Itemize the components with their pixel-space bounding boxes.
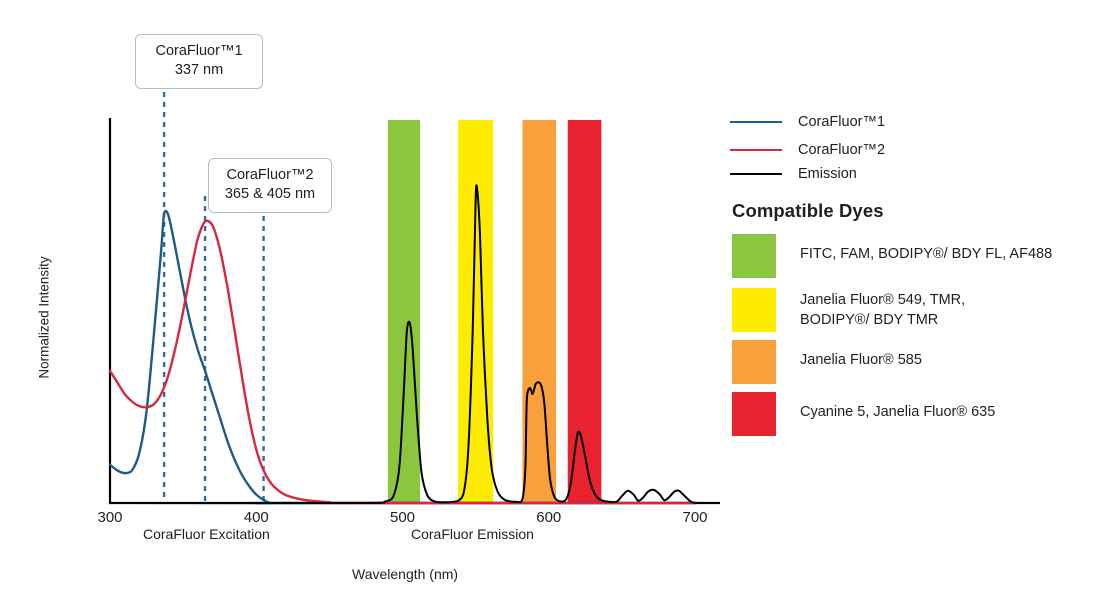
legend-item-label: CoraFluor™1	[798, 114, 885, 130]
yellow-band	[458, 120, 493, 503]
dye-color-swatch	[732, 340, 776, 384]
dye-item-label: FITC, FAM, BODIPY®/ BDY FL, AF488	[800, 234, 1052, 265]
x-tick-label: 700	[682, 509, 707, 526]
x-tick-label: 400	[244, 509, 269, 526]
dye-item-label: Janelia Fluor® 549, TMR, BODIPY®/ BDY TM…	[800, 288, 965, 330]
callout-corafluor-2: CoraFluor™2 365 & 405 nm	[208, 158, 332, 213]
excitation-range-label: CoraFluor Excitation	[143, 526, 270, 542]
dye-item-label: Janelia Fluor® 585	[800, 340, 922, 371]
callout-corafluor-1: CoraFluor™1 337 nm	[135, 34, 263, 89]
legend-line-swatch	[730, 149, 782, 151]
legend-item-label: Emission	[798, 166, 857, 182]
emission-range-label: CoraFluor Emission	[411, 526, 534, 542]
green-band	[388, 120, 420, 503]
legend-item-emission: Emission	[730, 165, 857, 183]
legend-item-label: CoraFluor™2	[798, 142, 885, 158]
callout-2-title: CoraFluor™2	[221, 166, 319, 185]
orange-band	[522, 120, 556, 503]
x-tick-label: 600	[536, 509, 561, 526]
callout-1-value: 337 nm	[148, 61, 250, 80]
legend-panel: CoraFluor™1 CoraFluor™2 Emission Compati…	[730, 0, 1110, 612]
legend-line-swatch	[730, 121, 782, 123]
red-band	[568, 120, 602, 503]
legend-item-corafluor-1: CoraFluor™1	[730, 113, 885, 131]
figure-root: Normalized Intensity Wavelength (nm) 300…	[0, 0, 1110, 612]
marker-lines-group	[164, 92, 263, 503]
legend-line-swatch	[730, 173, 782, 175]
x-tick-label: 300	[97, 509, 122, 526]
dye-color-swatch	[732, 392, 776, 436]
x-axis-title: Wavelength (nm)	[352, 566, 458, 582]
x-tick-label: 500	[390, 509, 415, 526]
dye-item-label: Cyanine 5, Janelia Fluor® 635	[800, 392, 995, 423]
dye-item-green: FITC, FAM, BODIPY®/ BDY FL, AF488	[732, 234, 1052, 278]
callout-2-value: 365 & 405 nm	[221, 185, 319, 204]
dye-color-swatch	[732, 288, 776, 332]
dye-item-orange: Janelia Fluor® 585	[732, 340, 922, 384]
y-axis-title: Normalized Intensity	[37, 238, 52, 398]
compatible-dyes-heading: Compatible Dyes	[732, 200, 884, 222]
callout-1-title: CoraFluor™1	[148, 42, 250, 61]
dye-color-swatch	[732, 234, 776, 278]
legend-item-corafluor-2: CoraFluor™2	[730, 141, 885, 159]
chart-panel: Normalized Intensity Wavelength (nm) 300…	[0, 0, 730, 612]
dye-item-red: Cyanine 5, Janelia Fluor® 635	[732, 392, 995, 436]
dye-item-yellow: Janelia Fluor® 549, TMR, BODIPY®/ BDY TM…	[732, 288, 965, 332]
